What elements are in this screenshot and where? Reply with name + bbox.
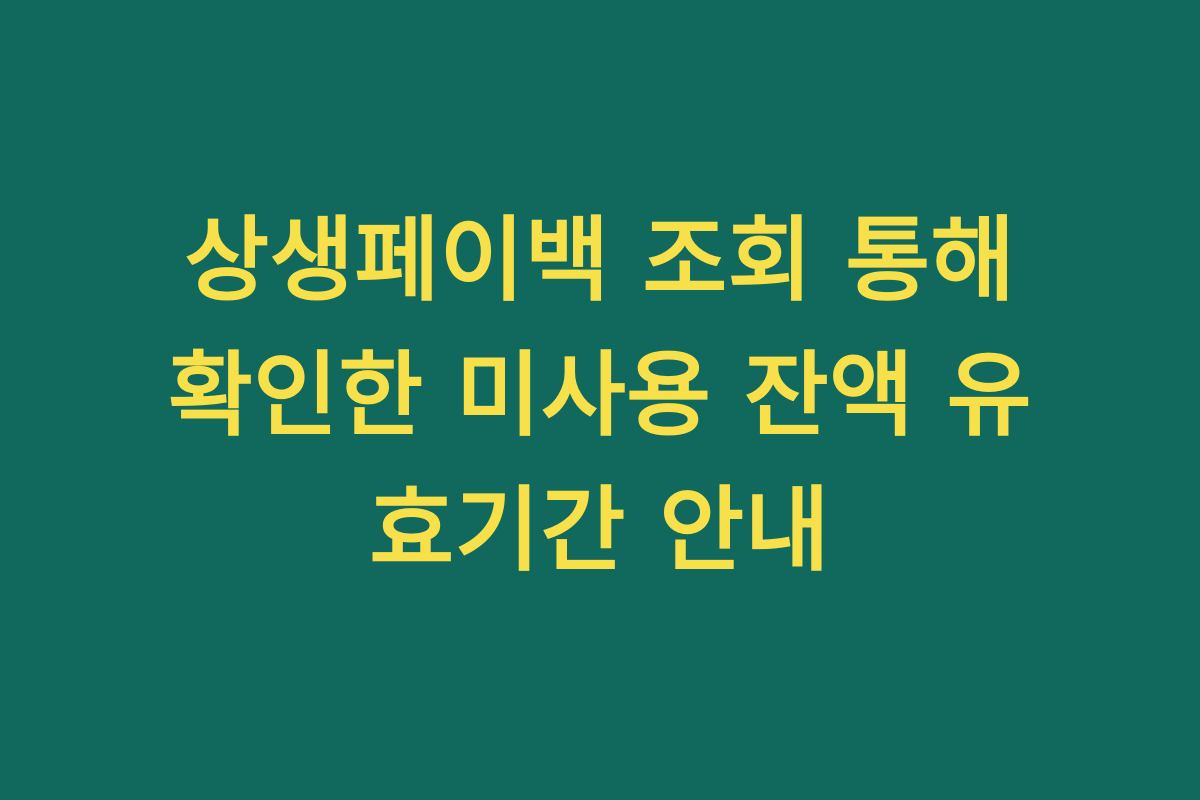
headline-text-block: 상생페이백 조회 통해 확인한 미사용 잔액 유 효기간 안내 bbox=[100, 193, 1100, 598]
headline-line-1: 상생페이백 조회 통해 bbox=[184, 193, 1015, 328]
headline-line-3: 효기간 안내 bbox=[369, 463, 830, 598]
banner-canvas: 상생페이백 조회 통해 확인한 미사용 잔액 유 효기간 안내 bbox=[0, 0, 1200, 800]
headline-line-2: 확인한 미사용 잔액 유 bbox=[168, 328, 1032, 463]
